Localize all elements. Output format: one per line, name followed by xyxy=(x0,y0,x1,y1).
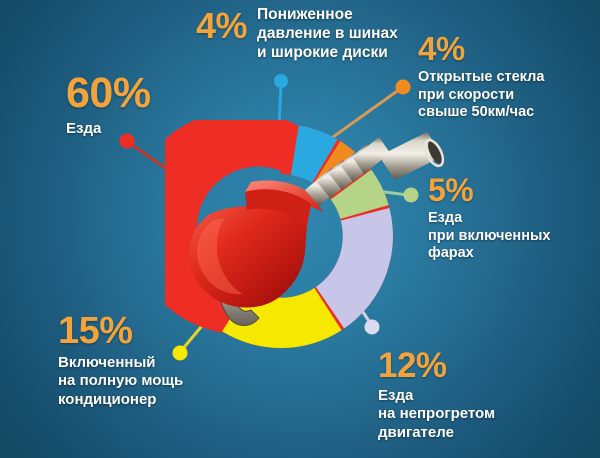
callout-tire-pressure-label: Пониженное давление в шинах и широкие ди… xyxy=(257,6,398,63)
callout-tire-pressure-percent: 4% xyxy=(196,8,247,44)
callout-tire-pressure-line2: давление в шинах xyxy=(257,25,398,44)
callout-open-windows-line3: свыше 50км/час xyxy=(418,104,544,122)
callout-air-conditioner: 15% Включенный на полную мощь кондиционе… xyxy=(58,312,183,409)
fuel-nozzle-icon xyxy=(155,120,445,340)
callout-tire-pressure-line1: Пониженное xyxy=(257,6,398,25)
callout-headlights-line1: Езда xyxy=(428,210,550,228)
callout-air-conditioner-line1: Включенный xyxy=(58,354,183,372)
callout-headlights-line2: при включенных xyxy=(428,228,550,246)
callout-tire-pressure: 4% Пониженное давление в шинах и широкие… xyxy=(196,6,398,63)
leader-dot-tire-pressure xyxy=(274,74,288,88)
callout-open-windows-percent: 4% xyxy=(418,32,544,65)
callout-open-windows-line1: Открытые стекла xyxy=(418,69,544,87)
callout-cold-engine-percent: 12% xyxy=(378,348,495,383)
callout-air-conditioner-line2: на полную мощь xyxy=(58,372,183,390)
callout-cold-engine-line3: двигателе xyxy=(378,424,495,442)
callout-ride-label: Езда xyxy=(66,120,151,138)
callout-ride: 60% Езда xyxy=(66,72,151,138)
callout-headlights: 5% Езда при включенных фарах xyxy=(428,174,550,263)
callout-ride-line1: Езда xyxy=(66,120,151,138)
callout-open-windows: 4% Открытые стекла при скорости свыше 50… xyxy=(418,32,544,122)
callout-ride-percent: 60% xyxy=(66,72,151,115)
callout-open-windows-label: Открытые стекла при скорости свыше 50км/… xyxy=(418,69,544,122)
callout-headlights-label: Езда при включенных фарах xyxy=(428,210,550,263)
nozzle-ribbed-barrel xyxy=(305,137,390,206)
callout-air-conditioner-percent: 15% xyxy=(58,312,183,350)
callout-headlights-line3: фарах xyxy=(428,245,550,263)
callout-cold-engine-line1: Езда xyxy=(378,387,495,405)
callout-air-conditioner-line3: кондиционер xyxy=(58,391,183,409)
leader-dot-open-windows xyxy=(396,80,411,95)
callout-headlights-percent: 5% xyxy=(428,174,550,206)
callout-open-windows-line2: при скорости xyxy=(418,87,544,105)
callout-tire-pressure-line3: и широкие диски xyxy=(257,44,398,63)
callout-air-conditioner-label: Включенный на полную мощь кондиционер xyxy=(58,354,183,409)
infographic-canvas: 60% Езда 4% Пониженное давление в шинах … xyxy=(0,0,600,458)
callout-cold-engine-line2: на непрогретом xyxy=(378,405,495,423)
callout-cold-engine-label: Езда на непрогретом двигателе xyxy=(378,387,495,442)
callout-cold-engine: 12% Езда на непрогретом двигателе xyxy=(378,348,495,442)
